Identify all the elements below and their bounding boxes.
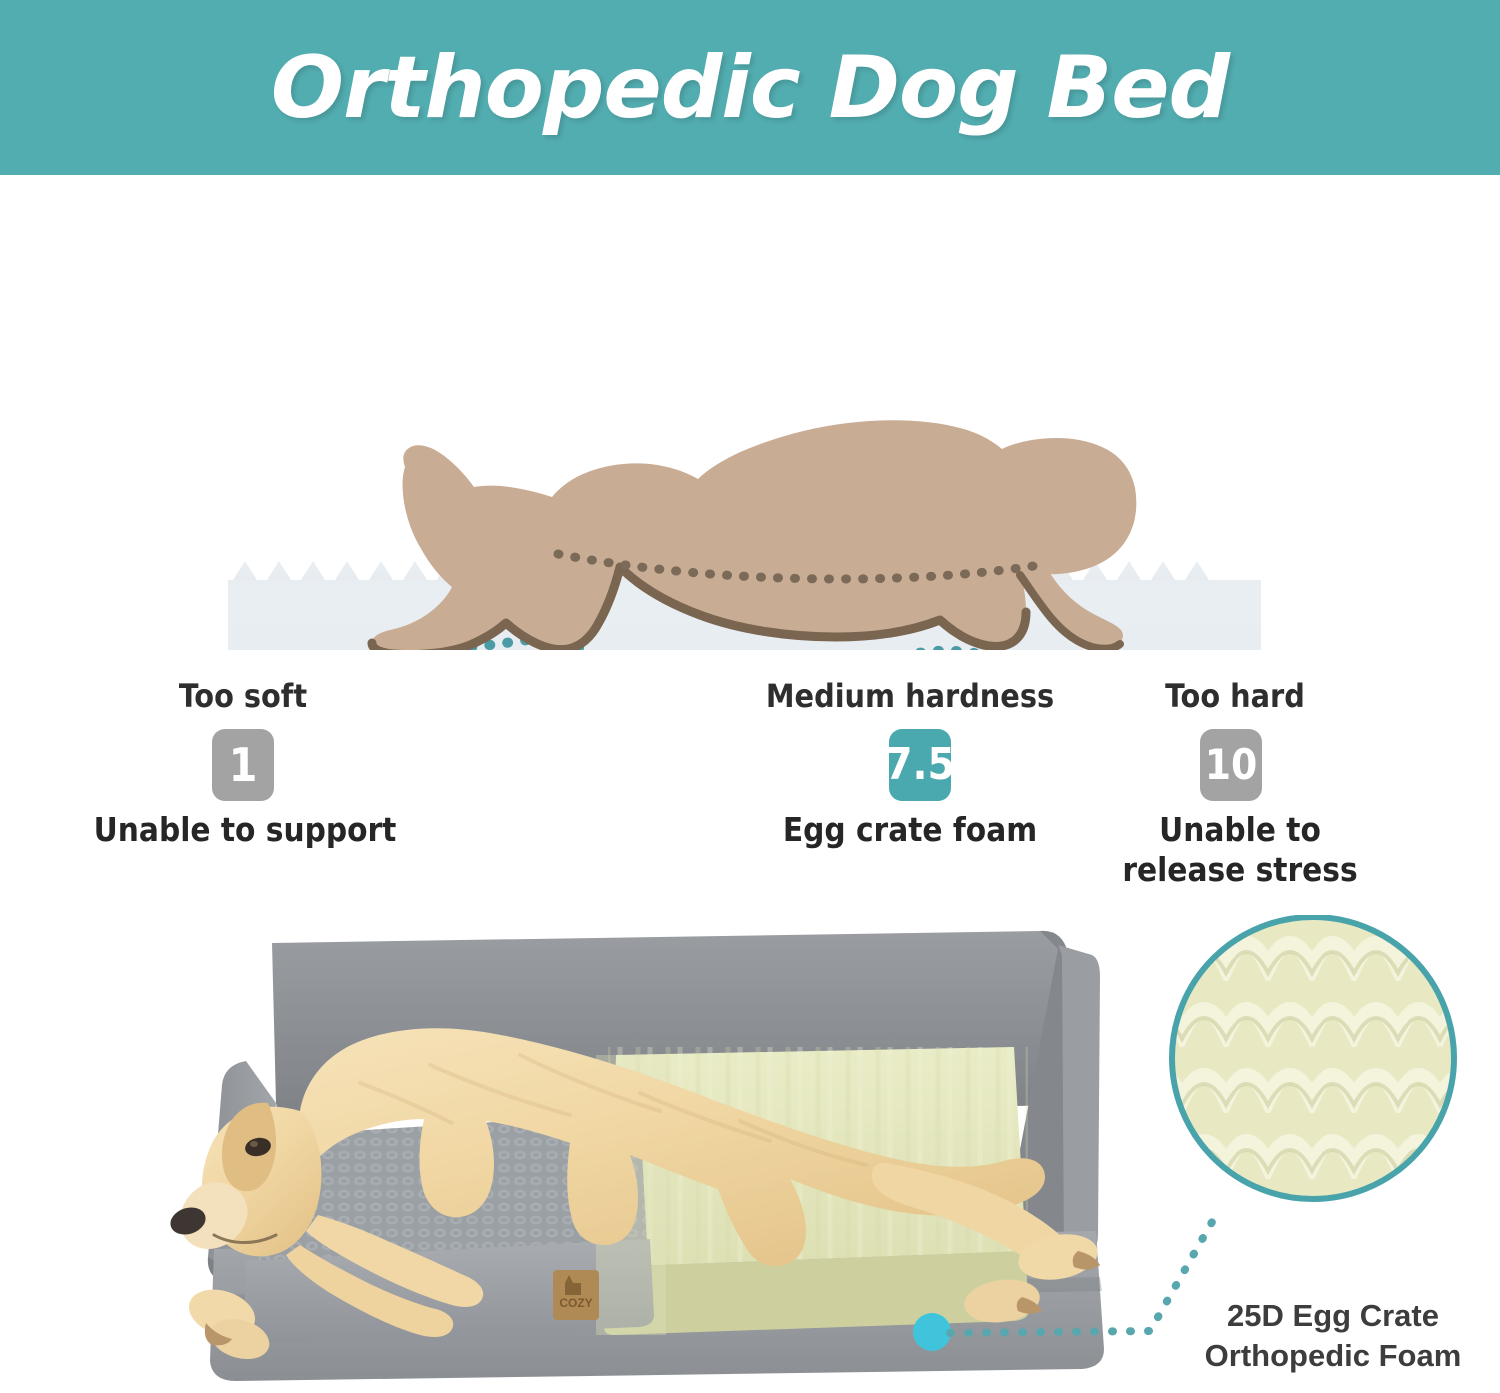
brand-tag: COZY (553, 1270, 599, 1320)
scale-caption-egg-crate-foam: Egg crate foam (760, 810, 1060, 850)
scale-badge-10: 10 (1200, 729, 1262, 801)
scale-label-too-soft: Too soft (128, 677, 358, 715)
callout-caption-line-2: Orthopedic Foam (1168, 1336, 1498, 1376)
callout-marker-dot (913, 1313, 951, 1351)
scale-caption-unable-to-release-stress: Unable to release stress (1095, 810, 1385, 891)
callout-caption-line-1: 25D Egg Crate (1168, 1296, 1498, 1336)
svg-text:COZY: COZY (559, 1296, 592, 1310)
scale-label-medium-hardness: Medium hardness (760, 677, 1060, 715)
callout-caption: 25D Egg Crate Orthopedic Foam (1168, 1296, 1498, 1375)
dog-silhouette (372, 420, 1136, 650)
scale-label-too-hard: Too hard (1110, 677, 1360, 715)
dog-on-foam-support-diagram (0, 175, 1500, 650)
scale-badge-7-5: 7.5 (889, 729, 951, 801)
product-infographic-page: Orthopedic Dog Bed (0, 0, 1500, 1393)
header-banner: Orthopedic Dog Bed (0, 0, 1500, 175)
scale-caption-unable-to-support: Unable to support (80, 810, 410, 850)
scale-badge-1: 1 (212, 729, 274, 801)
page-title: Orthopedic Dog Bed (0, 0, 1500, 175)
